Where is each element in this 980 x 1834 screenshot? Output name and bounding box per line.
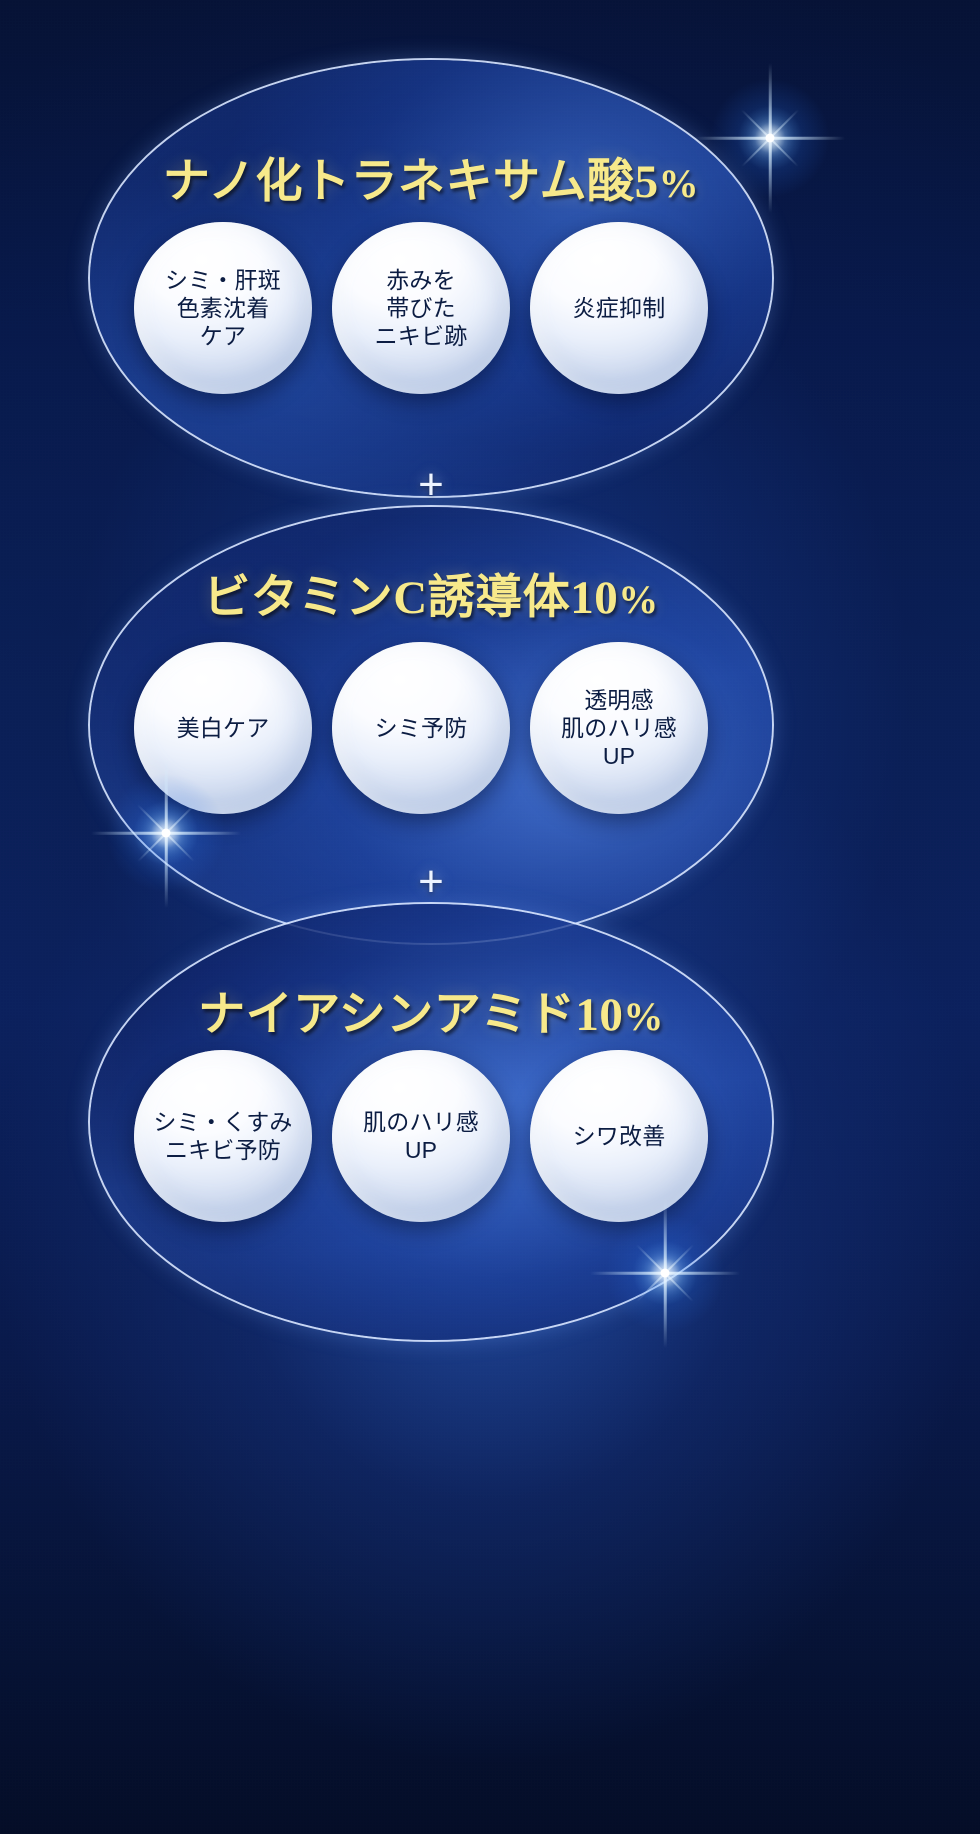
bubble-2-1-label: 美白ケア [177,714,270,742]
ingredient-heading-2: ビタミンC誘導体10% [88,558,774,627]
bubble-1-3-line-1: 炎症抑制 [573,294,666,322]
bubble-1-3-label: 炎症抑制 [573,294,666,322]
bubble-1-2-label: 赤みを 帯びた ニキビ跡 [375,266,468,350]
bubble-2-1-line-1: 美白ケア [177,714,270,742]
plus-connector-2: + [409,860,453,904]
bubble-3-2-line-2: UP [363,1136,479,1164]
bubble-2-3-line-2: 肌のハリ感 [561,714,677,742]
ingredient-heading-3-value: 10 [575,989,623,1041]
sparkle-ray-horizontal [695,137,845,140]
bubble-3-1-label: シミ・くすみ ニキビ予防 [153,1108,292,1164]
bubble-3-3-line-1: シワ改善 [573,1122,666,1150]
ingredient-heading-1-unit: % [659,161,700,206]
bubble-2-3-line-3: UP [561,742,677,770]
bubble-3-1-line-1: シミ・くすみ [153,1108,292,1136]
bubble-shimi-yobou[interactable]: シミ予防 [332,642,510,814]
bubble-2-3-label: 透明感 肌のハリ感 UP [561,686,677,770]
bubble-3-2-label: 肌のハリ感 UP [363,1108,479,1164]
ingredient-heading-1: ナノ化トラネキサム酸5% [88,142,774,211]
ingredient-heading-1-value: 5 [635,156,659,208]
ingredient-heading-3: ナイアシンアミド10% [88,975,774,1044]
bubble-3-1-line-2: ニキビ予防 [153,1136,292,1164]
bubble-2-2-label: シミ予防 [375,714,468,742]
bubble-1-1-line-3: ケア [165,322,281,350]
bubble-1-1-line-1: シミ・肝斑 [165,266,281,294]
bubble-bihaku-care[interactable]: 美白ケア [134,642,312,814]
ingredient-venn-infographic: ナノ化トラネキサム酸5% シミ・肝斑 色素沈着 ケア 赤みを 帯びた ニキビ跡 … [0,0,980,1834]
bubble-3-2-line-1: 肌のハリ感 [363,1108,479,1136]
ingredient-heading-2-text: ビタミンC誘導体 [203,572,570,624]
ingredient-heading-3-unit: % [623,994,664,1039]
bubble-shiwa-kaizen[interactable]: シワ改善 [530,1050,708,1222]
bubble-akami-nikibi-ato[interactable]: 赤みを 帯びた ニキビ跡 [332,222,510,394]
ingredient-heading-2-unit: % [618,577,659,622]
bubble-1-1-label: シミ・肝斑 色素沈着 ケア [165,266,281,350]
bubble-1-1-line-2: 色素沈着 [165,294,281,322]
bubble-shimi-kanpan-care[interactable]: シミ・肝斑 色素沈着 ケア [134,222,312,394]
bubble-1-2-line-3: ニキビ跡 [375,322,468,350]
bubble-toumeikan-hari-up[interactable]: 透明感 肌のハリ感 UP [530,642,708,814]
ingredient-heading-2-value: 10 [570,572,618,624]
plus-connector-1: + [409,463,453,507]
bubble-2-3-line-1: 透明感 [561,686,677,714]
bubble-1-2-line-2: 帯びた [375,294,468,322]
ingredient-heading-3-text: ナイアシンアミド [198,989,575,1041]
bubble-shimi-kusumi-nikibi[interactable]: シミ・くすみ ニキビ予防 [134,1050,312,1222]
bubble-ensho-yokusei[interactable]: 炎症抑制 [530,222,708,394]
ingredient-heading-1-text: ナノ化トラネキサム酸 [163,156,635,208]
bubble-3-3-label: シワ改善 [573,1122,666,1150]
bubble-hari-up[interactable]: 肌のハリ感 UP [332,1050,510,1222]
bubble-1-2-line-1: 赤みを [375,266,468,294]
bubble-2-2-line-1: シミ予防 [375,714,468,742]
